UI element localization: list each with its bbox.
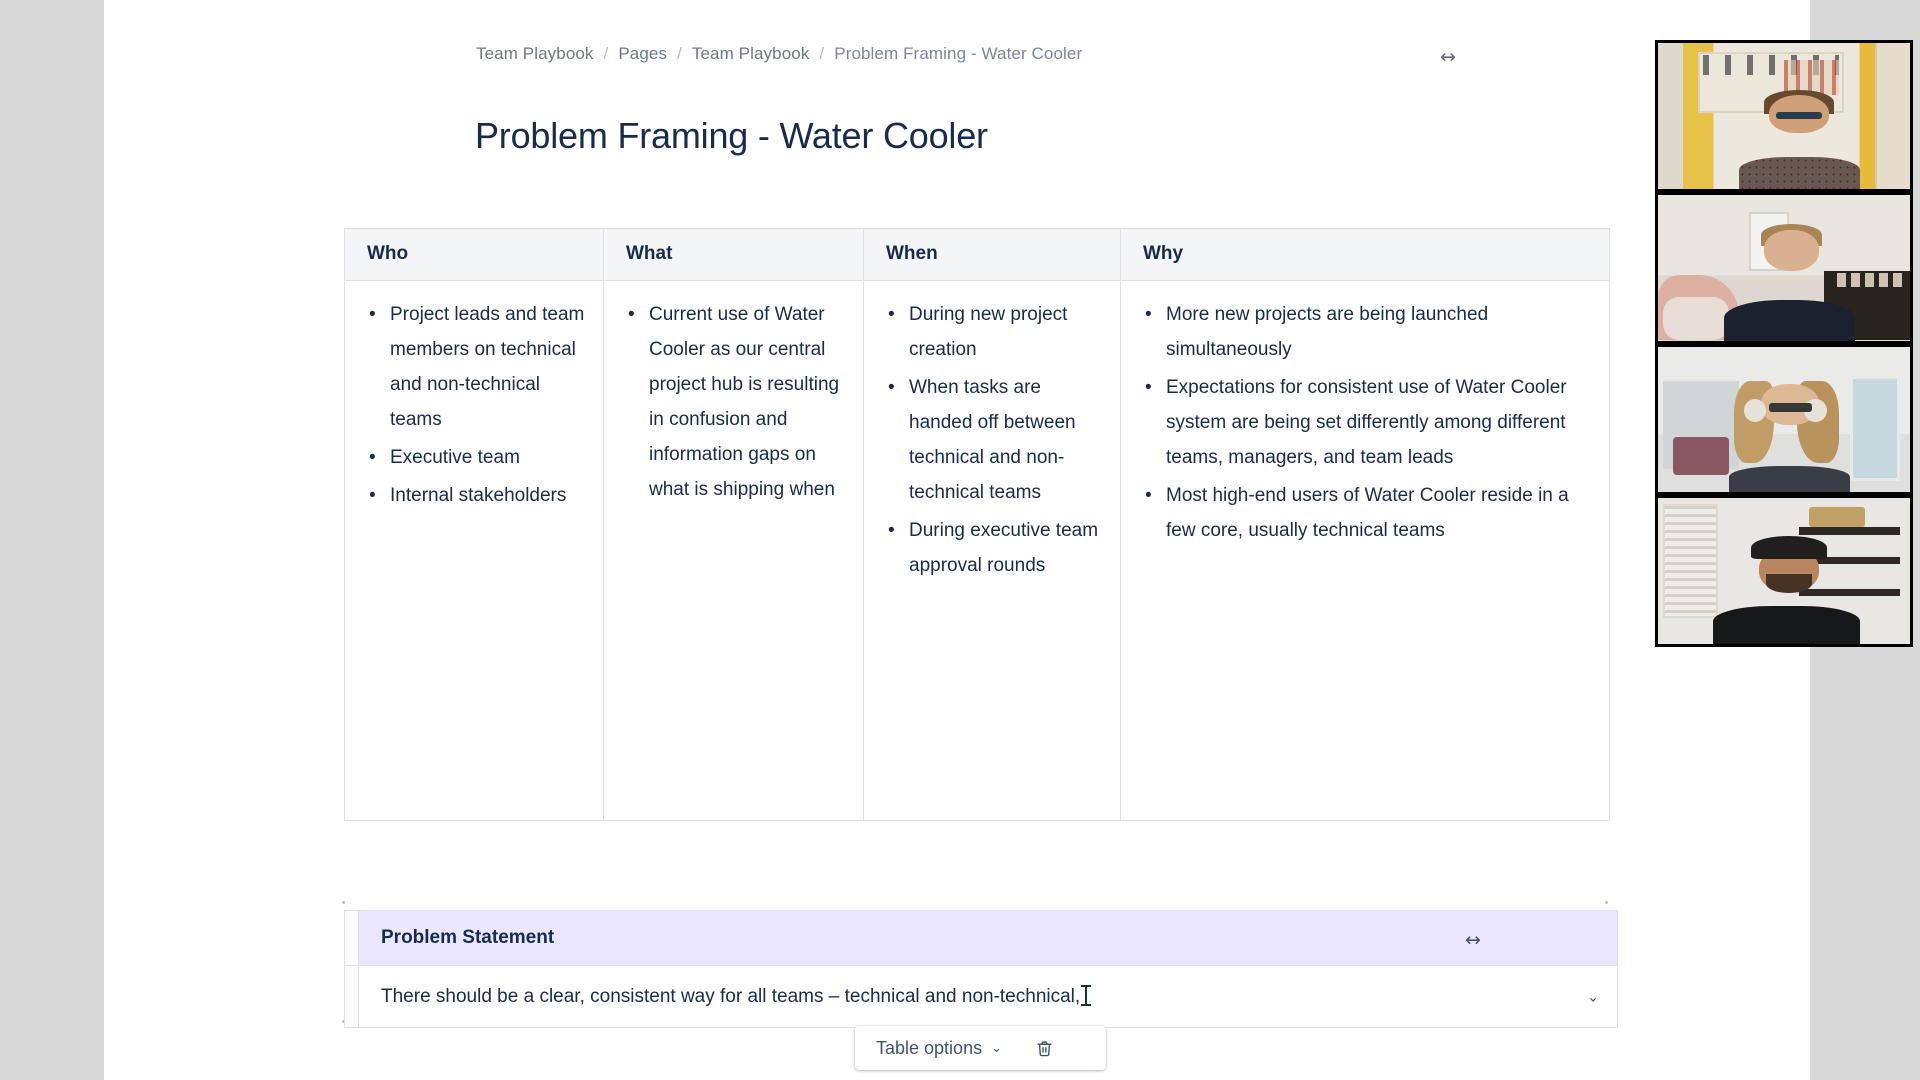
row-grip-handle[interactable] <box>345 911 359 966</box>
breadcrumb-item-3[interactable]: Problem Framing - Water Cooler <box>834 44 1082 64</box>
column-header-what[interactable]: What <box>604 229 864 281</box>
table-options-toolbar: Table options ⌄ <box>855 1026 1106 1070</box>
participant-tile-2[interactable] <box>1655 192 1913 344</box>
bullet-list-why: More new projects are being launched sim… <box>1139 297 1591 548</box>
list-item: During executive team approval rounds <box>882 513 1102 583</box>
toolbar-divider <box>1019 1037 1020 1059</box>
problem-statement-header-cell[interactable]: Problem Statement <box>359 911 1618 966</box>
breadcrumb-separator: / <box>819 44 824 64</box>
cell-when[interactable]: During new project creation When tasks a… <box>864 281 1121 821</box>
column-header-when[interactable]: When <box>864 229 1121 281</box>
problem-statement-wrapper: Problem Statement There should be a clea… <box>328 898 1618 912</box>
cell-why[interactable]: More new projects are being launched sim… <box>1121 281 1610 821</box>
list-item: Most high-end users of Water Cooler resi… <box>1139 478 1591 548</box>
bullet-list-who: Project leads and team members on techni… <box>363 297 585 513</box>
breadcrumb-item-1[interactable]: Pages <box>618 44 667 64</box>
tile-overlay <box>1658 43 1910 189</box>
text-cursor-icon <box>1085 985 1087 1006</box>
list-item: Executive team <box>363 440 585 475</box>
list-item: Expectations for consistent use of Water… <box>1139 370 1591 475</box>
chevron-down-icon[interactable]: ⌄ <box>1587 988 1599 1005</box>
breadcrumb-item-0[interactable]: Team Playbook <box>476 44 594 64</box>
problem-statement-header-row: Problem Statement <box>345 911 1618 966</box>
breadcrumb-separator: / <box>604 44 609 64</box>
breadcrumb-item-2[interactable]: Team Playbook <box>692 44 810 64</box>
table-options-button[interactable]: Table options ⌄ <box>865 1031 1013 1066</box>
handle-dot[interactable] <box>1605 901 1608 904</box>
problem-statement-text: There should be a clear, consistent way … <box>381 986 1080 1007</box>
breadcrumb-separator: / <box>677 44 682 64</box>
list-item: Current use of Water Cooler as our centr… <box>622 297 845 507</box>
list-item: When tasks are handed off between techni… <box>882 370 1102 510</box>
row-grip-handle[interactable] <box>345 966 359 1028</box>
bullet-list-when: During new project creation When tasks a… <box>882 297 1102 583</box>
handle-dot[interactable] <box>342 901 345 904</box>
participant-tile-4[interactable] <box>1655 495 1913 647</box>
cell-who[interactable]: Project leads and team members on techni… <box>345 281 604 821</box>
tile-overlay <box>1658 347 1910 493</box>
tile-overlay <box>1658 498 1910 644</box>
video-participants-panel <box>1655 40 1913 647</box>
problem-statement-table: Problem Statement There should be a clea… <box>344 910 1618 1028</box>
trash-icon <box>1036 1039 1053 1058</box>
problem-statement-body-cell[interactable]: There should be a clear, consistent way … <box>359 966 1618 1028</box>
table-header-row: Who What When Why <box>345 229 1610 281</box>
page-title: Problem Framing - Water Cooler <box>475 115 988 157</box>
problem-framing-table: Who What When Why Project leads and team… <box>344 228 1610 821</box>
tile-overlay <box>1658 195 1910 341</box>
list-item: During new project creation <box>882 297 1102 367</box>
resize-arrows-icon[interactable]: ↔ <box>1440 46 1454 68</box>
column-header-why[interactable]: Why <box>1121 229 1610 281</box>
cell-what[interactable]: Current use of Water Cooler as our centr… <box>604 281 864 821</box>
column-header-who[interactable]: Who <box>345 229 604 281</box>
list-item: More new projects are being launched sim… <box>1139 297 1591 367</box>
chevron-down-icon: ⌄ <box>991 1040 1002 1056</box>
list-item: Project leads and team members on techni… <box>363 297 585 437</box>
table-body-row: Project leads and team members on techni… <box>345 281 1610 821</box>
participant-tile-3[interactable] <box>1655 344 1913 496</box>
participant-tile-1[interactable] <box>1655 40 1913 192</box>
breadcrumb: Team Playbook / Pages / Team Playbook / … <box>476 44 1082 64</box>
table-options-label: Table options <box>876 1038 982 1059</box>
delete-table-button[interactable] <box>1026 1032 1064 1064</box>
problem-statement-body-row: There should be a clear, consistent way … <box>345 966 1618 1028</box>
table-resize-arrows-icon[interactable]: ↔ <box>1455 925 1489 955</box>
list-item: Internal stakeholders <box>363 478 585 513</box>
screen-root: Team Playbook / Pages / Team Playbook / … <box>0 0 1920 1080</box>
bullet-list-what: Current use of Water Cooler as our centr… <box>622 297 845 507</box>
